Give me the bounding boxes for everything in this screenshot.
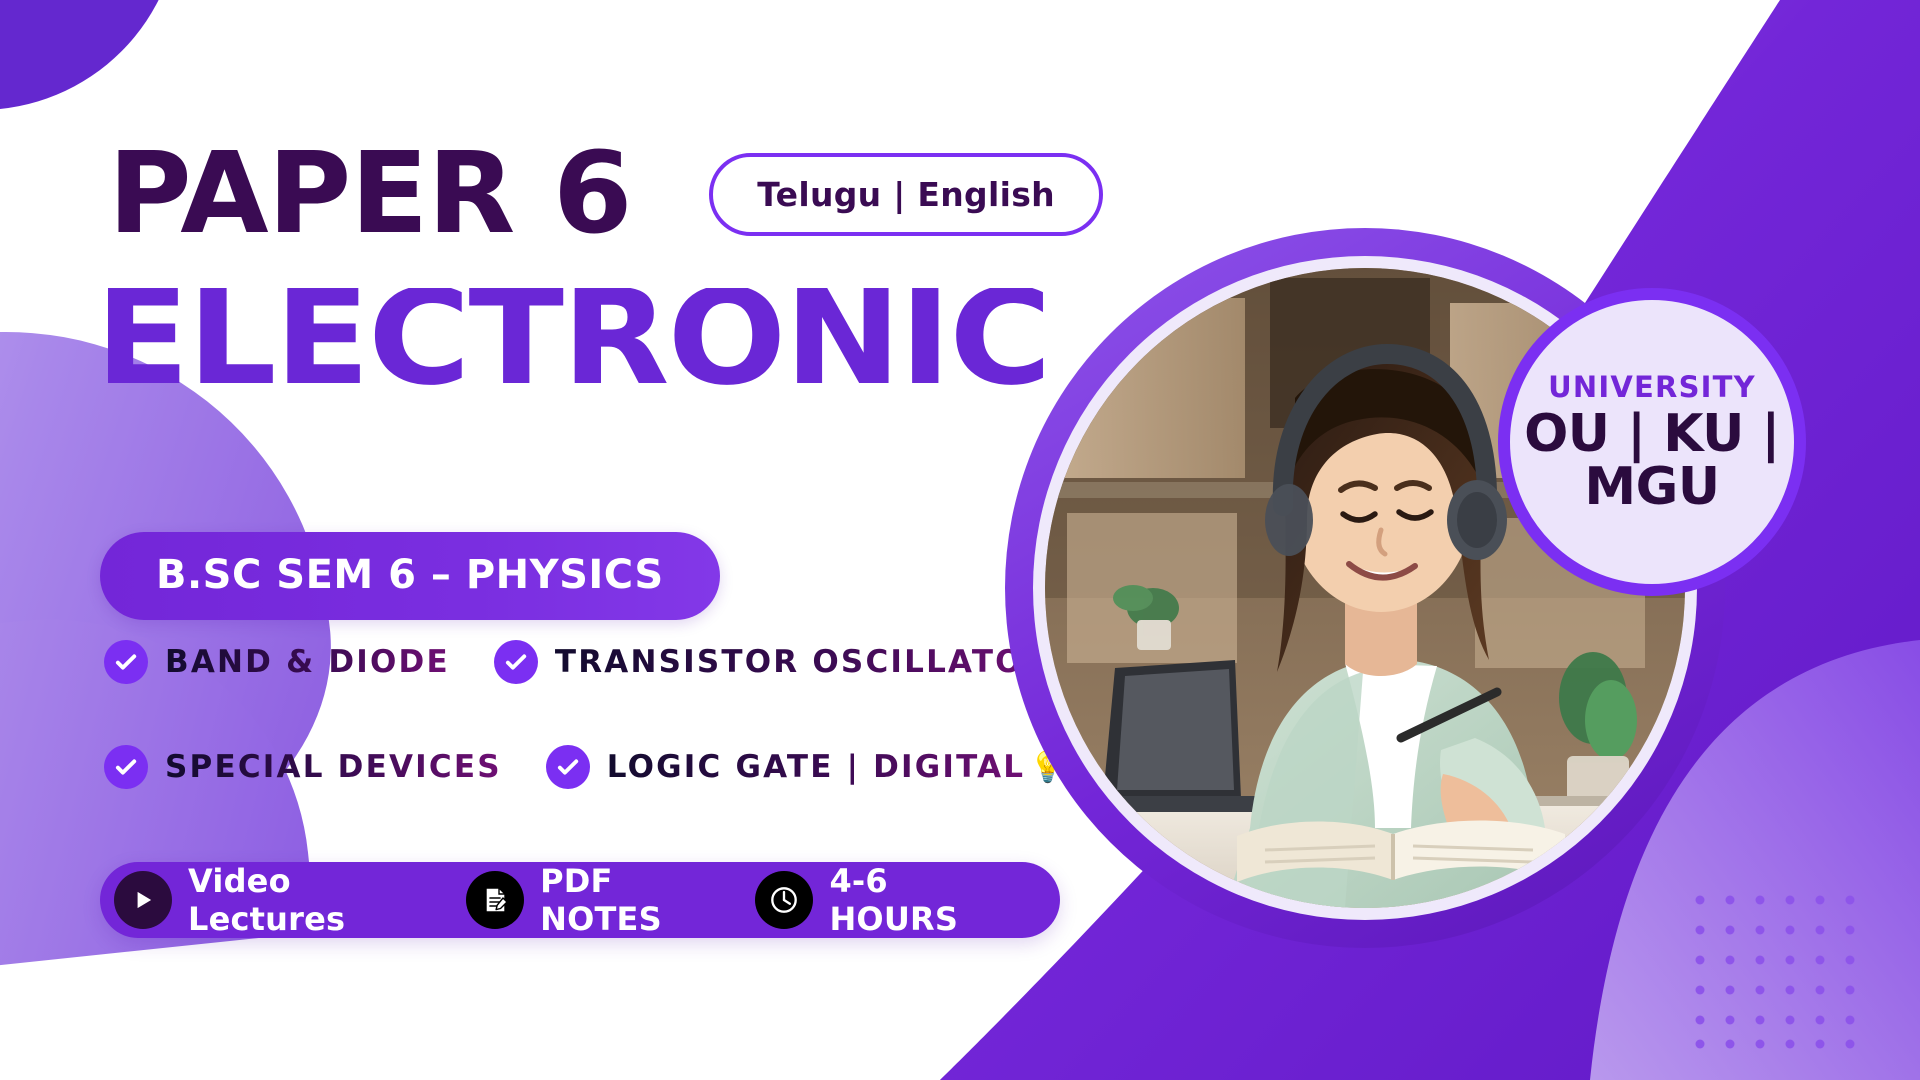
poster-canvas: PAPER 6 Telugu | English ELECTRONIC B.SC… <box>0 0 1920 1080</box>
clock-icon <box>755 871 813 929</box>
title-row: PAPER 6 Telugu | English <box>108 138 1103 250</box>
feature-label: BAND & DIODE <box>165 644 450 680</box>
feature-item: BAND & DIODE <box>104 640 450 684</box>
subject-title-clip: ELECTRONIC <box>108 288 1068 388</box>
left-content-column: PAPER 6 Telugu | English ELECTRONIC B.SC… <box>0 0 1060 1080</box>
feature-item: TRANSISTOR OSCILLATOR <box>494 640 1050 684</box>
feature-item: LOGIC GATE | DIGITAL 💡 <box>546 745 1067 789</box>
feature-item: SPECIAL DEVICES <box>104 745 502 789</box>
bottom-bar-item[interactable]: 4-6 HOURS <box>755 862 1038 938</box>
bottom-bar-label: PDF NOTES <box>540 862 731 938</box>
subject-title: ELECTRONIC <box>108 288 1050 388</box>
course-badge: B.SC SEM 6 – PHYSICS <box>100 532 720 620</box>
university-badge: UNIVERSITY OU | KU | MGU <box>1498 288 1806 596</box>
course-badge-label: B.SC SEM 6 – PHYSICS <box>156 552 664 598</box>
feature-label: SPECIAL DEVICES <box>165 749 502 785</box>
bottom-bar-label: Video Lectures <box>188 862 442 938</box>
check-icon <box>104 640 148 684</box>
feature-label: TRANSISTOR OSCILLATOR <box>555 644 1050 680</box>
language-pill-label: Telugu | English <box>757 175 1055 214</box>
university-badge-names: OU | KU | MGU <box>1510 408 1794 514</box>
university-badge-kicker: UNIVERSITY <box>1548 370 1756 404</box>
check-icon <box>494 640 538 684</box>
bottom-feature-bar: Video Lectures PDF NOTES <box>100 862 1060 938</box>
feature-row-1: BAND & DIODE TRANSISTOR OSCILLATOR <box>104 640 1050 684</box>
check-icon <box>546 745 590 789</box>
play-icon <box>114 871 172 929</box>
bottom-bar-label: 4-6 HOURS <box>829 862 1014 938</box>
language-pill[interactable]: Telugu | English <box>709 153 1103 236</box>
feature-row-2: SPECIAL DEVICES LOGIC GATE | DIGITAL 💡 <box>104 745 1067 789</box>
page-title: PAPER 6 <box>108 138 632 250</box>
feature-label: LOGIC GATE | DIGITAL <box>607 749 1026 785</box>
bottom-bar-item[interactable]: Video Lectures <box>114 862 466 938</box>
document-edit-icon <box>466 871 524 929</box>
check-icon <box>104 745 148 789</box>
bottom-bar-item[interactable]: PDF NOTES <box>466 862 755 938</box>
